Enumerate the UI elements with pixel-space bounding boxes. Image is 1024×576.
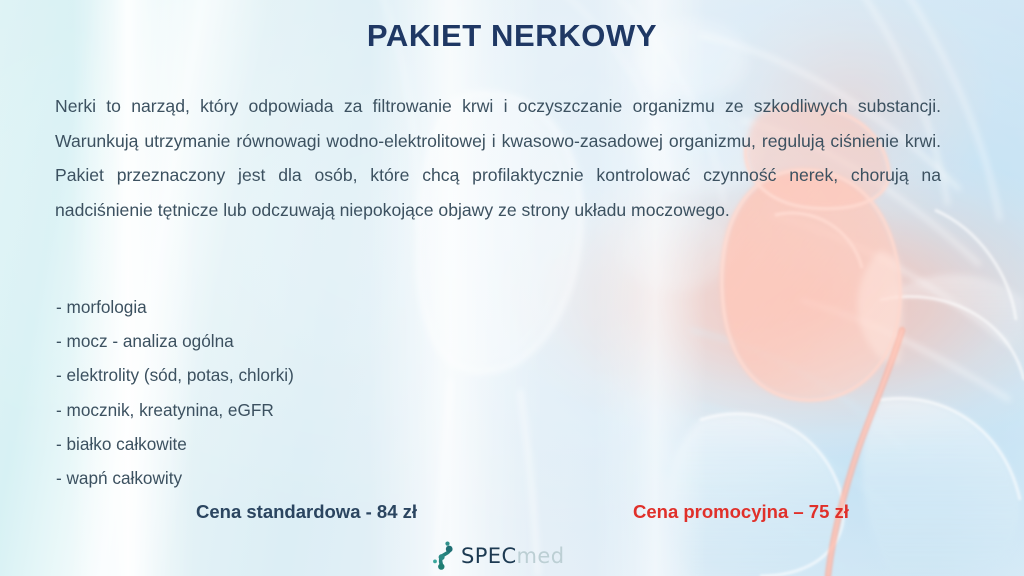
slide-root: PAKIET NERKOWY Nerki to narząd, który od… — [0, 0, 1024, 576]
logo-text-med: med — [517, 546, 565, 567]
list-item: - białko całkowite — [56, 427, 294, 461]
promo-price-label: Cena promocyjna – 75 zł — [633, 501, 849, 523]
specmed-wordmark: SPECmed — [461, 546, 564, 567]
logo-text-spec: SPEC — [461, 546, 517, 567]
specmed-logo: SPECmed — [432, 539, 564, 573]
package-items-list: - morfologia - mocz - analiza ogólna - e… — [56, 290, 294, 495]
list-item: - morfologia — [56, 290, 294, 324]
list-item: - mocz - analiza ogólna — [56, 324, 294, 358]
specmed-molecule-icon — [432, 541, 458, 571]
page-title: PAKIET NERKOWY — [0, 18, 1024, 54]
list-item: - wapń całkowity — [56, 461, 294, 495]
standard-price-label: Cena standardowa - 84 zł — [196, 501, 417, 523]
description-text: Nerki to narząd, który odpowiada za filt… — [55, 89, 941, 227]
list-item: - mocznik, kreatynina, eGFR — [56, 393, 294, 427]
list-item: - elektrolity (sód, potas, chlorki) — [56, 358, 294, 392]
description-paragraph: Nerki to narząd, który odpowiada za filt… — [55, 89, 941, 227]
